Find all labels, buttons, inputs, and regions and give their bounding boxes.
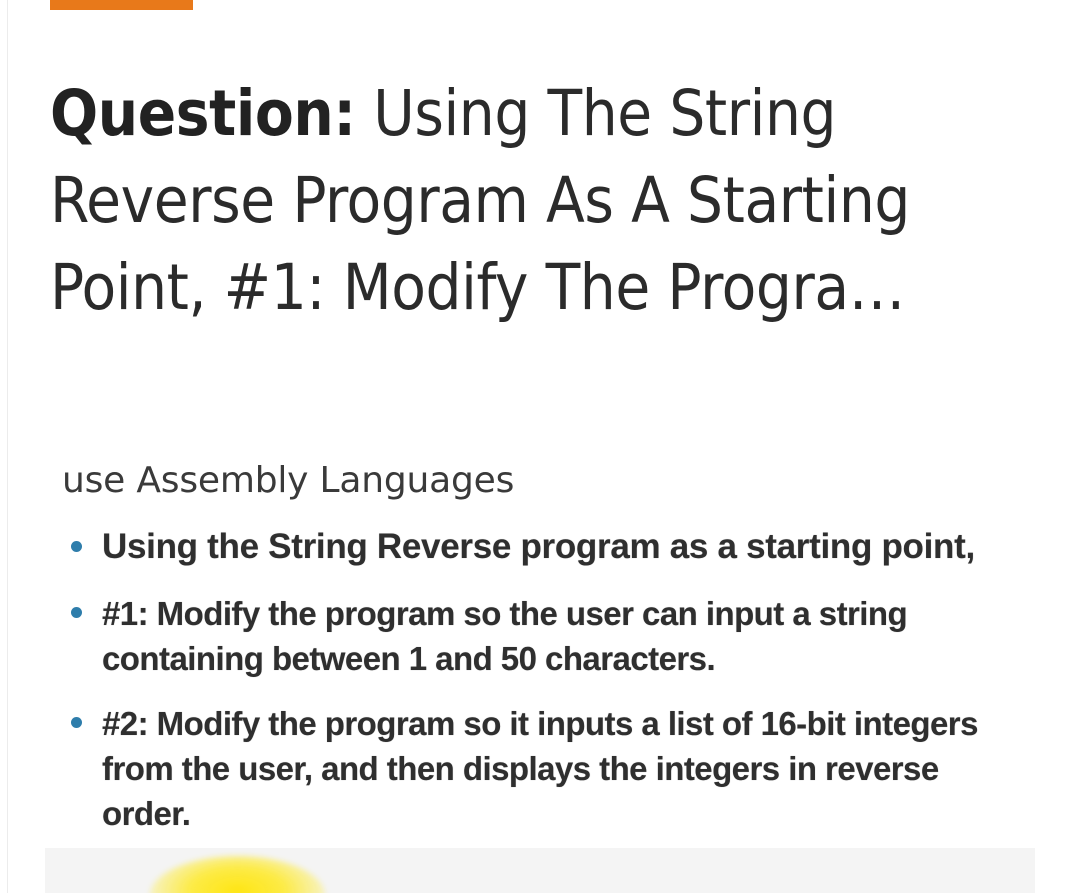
list-item-text: #2: Modify the program so it inputs a li… [102, 705, 978, 832]
requirements-list: Using the String Reverse program as a st… [0, 523, 1080, 836]
question-label: Question: [50, 77, 356, 150]
list-item-text: Using the String Reverse program as a st… [102, 527, 975, 566]
bottom-gray-panel [45, 848, 1035, 893]
list-item-text: #1: Modify the program so the user can i… [102, 595, 907, 677]
page-title: Question: Using The String Reverse Progr… [50, 70, 1040, 331]
question-body: use Assembly Languages Using the String … [0, 455, 1080, 836]
list-item: Using the String Reverse program as a st… [0, 523, 1080, 571]
bullet-dot-icon [71, 717, 82, 728]
bullet-dot-icon [71, 541, 82, 552]
intro-text: use Assembly Languages [62, 455, 1080, 507]
list-item: #1: Modify the program so the user can i… [0, 591, 1080, 681]
list-item: #2: Modify the program so it inputs a li… [0, 701, 1080, 836]
question-page: Question: Using The String Reverse Progr… [0, 0, 1080, 893]
bullet-dot-icon [71, 607, 82, 618]
orange-accent-bar [50, 0, 193, 10]
